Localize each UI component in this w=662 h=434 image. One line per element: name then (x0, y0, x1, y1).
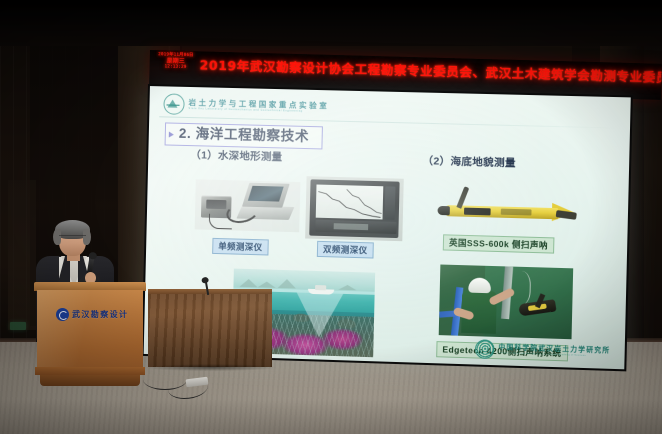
institute-logo: 中国科学院武汉岩土力学研究所 Institute of Rock and Soi… (475, 339, 611, 362)
concentric-circles-icon (475, 339, 495, 359)
echosounder-cable (209, 214, 232, 230)
towfish-deployment-photo (439, 265, 574, 340)
slide-title: 2. 海洋工程勘察技术 (179, 126, 310, 145)
echosounder-side-controls (385, 186, 396, 220)
section-1-heading: （1）水深地形测量 (190, 149, 402, 168)
label-sss-600k: 英国SSS-600k 侧扫声呐 (443, 234, 554, 253)
section-2-heading: （2）海底地貌测量 (422, 155, 623, 173)
slide-section-1: （1）水深地形测量 (190, 149, 402, 168)
slide-title-box: 2. 海洋工程勘察技术 (165, 122, 323, 149)
side-scan-sonar-towfish (437, 186, 591, 235)
ceiling (0, 0, 662, 46)
stage-table (148, 289, 272, 367)
led-time: 12:13:29 (154, 64, 196, 70)
survey-vessel-icon (308, 285, 334, 295)
sonar-beam-cone (296, 293, 344, 339)
screenshot-root: 2019年11月06日 星期三 12:13:29 2019年武汉勘察设计协会工程… (0, 0, 662, 434)
wuhan-survey-design-logo-icon (56, 308, 69, 321)
podium-logo-text: 武汉勘察设计 (72, 310, 128, 320)
exit-sign-icon (10, 322, 26, 330)
mountain-triangle-icon (163, 93, 185, 115)
podium-logo: 武汉勘察设计 (56, 308, 128, 321)
speaker-glasses (59, 235, 86, 242)
echosounder-display (316, 185, 384, 220)
bullet-triangle-icon (169, 132, 174, 138)
label-dual-beam: 双频测深仪 (317, 241, 374, 259)
sounding-trace-graph (316, 185, 384, 220)
lab-logo: 岩土力学与工程国家重点实验室 State Key Laboratory of G… (163, 93, 329, 118)
podium: 武汉勘察设计 (34, 282, 146, 392)
label-single-beam: 单频测深仪 (212, 238, 269, 256)
led-datetime: 2019年11月06日 星期三 12:13:29 (154, 52, 196, 71)
single-beam-echosounder-photo (195, 179, 301, 232)
slide-section-2: （2）海底地貌测量 英国SSS-600k 侧扫声呐 (422, 155, 623, 173)
echosounder-keypad (315, 220, 396, 234)
dual-beam-echosounder-photo (305, 176, 404, 241)
section-1-instrument-photos (193, 173, 404, 237)
